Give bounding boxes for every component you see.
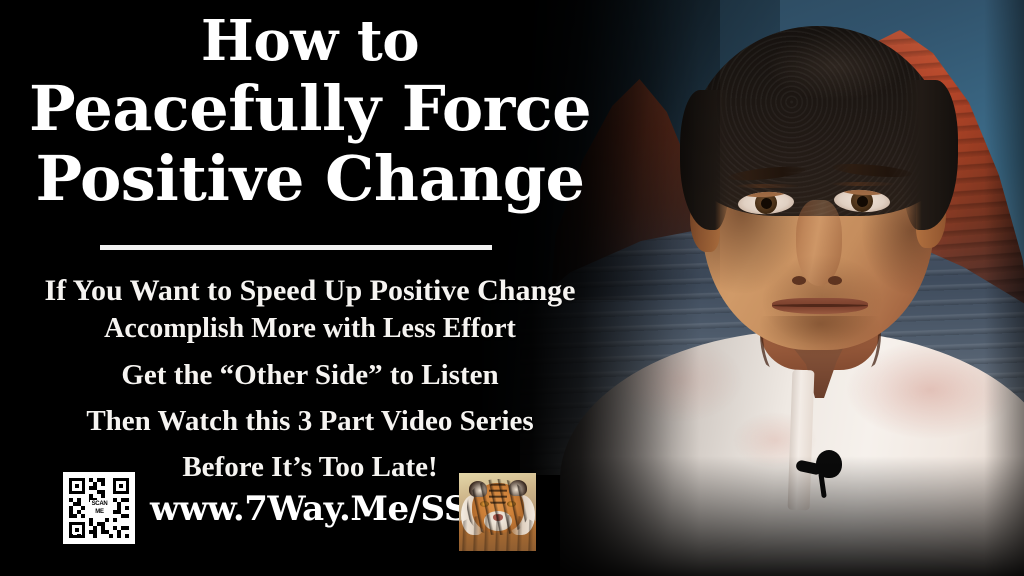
headline: How to Peacefully Force Positive Change: [0, 8, 620, 214]
nostril-right: [828, 276, 842, 285]
headline-line-2: Peacefully Force: [0, 74, 620, 144]
hair-side-left: [680, 90, 730, 230]
qr-code-matrix: SCAN ME: [69, 478, 129, 538]
text-content: How to Peacefully Force Positive Change …: [0, 0, 620, 576]
qr-code-icon[interactable]: SCAN ME: [63, 472, 135, 544]
eye-crease-right: [830, 182, 896, 186]
headline-divider: [100, 245, 492, 250]
tiger-body-stripes: [459, 515, 536, 551]
nostril-left: [792, 276, 806, 285]
subheadline-line-3: Get the “Other Side” to Listen: [0, 356, 620, 394]
headline-line-3: Positive Change: [0, 144, 620, 214]
hair-side-right: [902, 80, 958, 230]
nose: [796, 200, 842, 286]
qr-scan-me-line-1: SCAN: [92, 501, 108, 507]
subheadline-line-1: If You Want to Speed Up Positive Change: [0, 272, 620, 310]
headline-line-1: How to: [0, 8, 620, 74]
qr-scan-me-line-2: ME: [95, 509, 103, 515]
eye-crease-left: [734, 184, 800, 188]
footer-row: SCAN ME www.7Way.Me/SS: [0, 468, 620, 558]
website-url[interactable]: www.7Way.Me/SS: [150, 490, 450, 528]
subheadline-block: If You Want to Speed Up Positive Change …: [0, 272, 620, 486]
qr-finder-top-right: [113, 478, 129, 494]
subheadline-line-2: Accomplish More with Less Effort: [0, 310, 620, 348]
subheadline-line-4: Then Watch this 3 Part Video Series: [0, 402, 620, 440]
qr-scan-me-label: SCAN ME: [90, 500, 109, 517]
qr-finder-top-left: [69, 478, 85, 494]
person-portrait: [620, 10, 1000, 576]
thumbnail-canvas: How to Peacefully Force Positive Change …: [0, 0, 1024, 576]
chin-shading: [760, 316, 880, 356]
tiger-photo-icon: [459, 473, 536, 551]
mouth-line: [772, 304, 868, 307]
